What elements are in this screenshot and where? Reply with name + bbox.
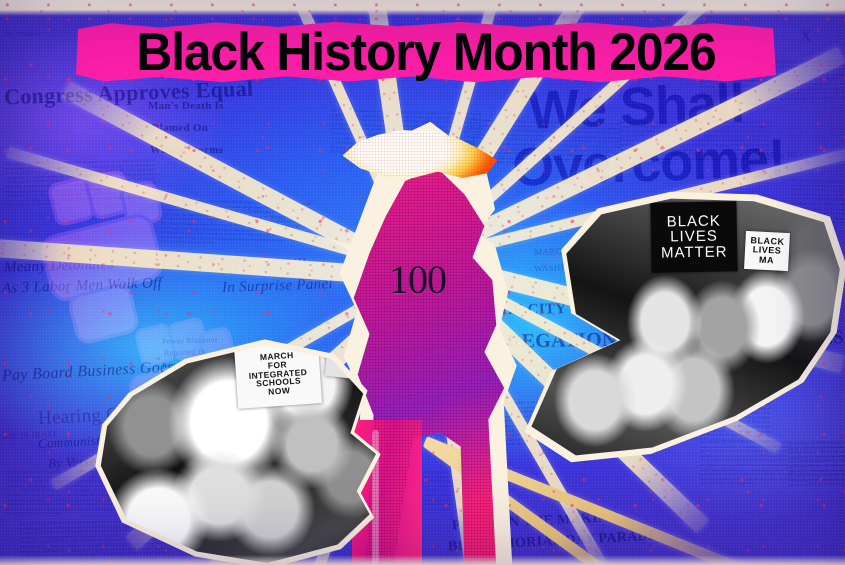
- black-lives-matter-placard-small: BLACK LIVES MA: [744, 231, 790, 271]
- title-text: Black History Month 2026: [97, 20, 755, 84]
- top-edge-speckles: [0, 0, 845, 22]
- black-lives-matter-placard: BLACK LIVES MATTER: [650, 201, 737, 272]
- poster-title: Black History Month 2026: [76, 20, 776, 84]
- black-history-month-poster: The WeatherCongress Approves EqualMan's …: [0, 0, 845, 565]
- placard-line: LIVES: [670, 229, 718, 245]
- placard-line: MA: [759, 255, 774, 265]
- placard-line: NOW: [268, 386, 291, 396]
- bottom-cream-edge: [0, 555, 845, 565]
- placard-line: MATTER: [661, 244, 728, 260]
- torch-centennial-number: 100: [389, 260, 446, 300]
